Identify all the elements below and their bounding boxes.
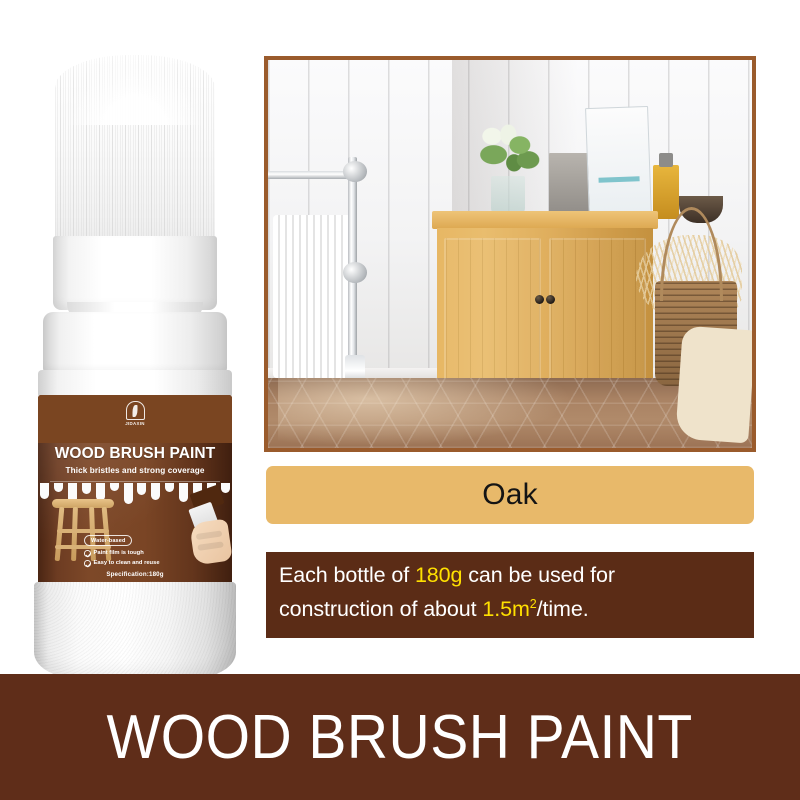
- cabinet-body: [437, 228, 652, 389]
- banner-title: WOOD BRUSH PAINT: [107, 702, 693, 773]
- label-divider: [50, 481, 220, 482]
- brush-ferrule: [53, 236, 217, 310]
- bottom-banner: WOOD BRUSH PAINT: [0, 674, 800, 800]
- coverage-line2-post: /time.: [537, 597, 589, 621]
- picture-frame-decor: [585, 105, 652, 220]
- cabinet-top: [432, 211, 658, 229]
- color-swatch-label: Oak: [482, 478, 538, 512]
- rail-joint: [343, 161, 367, 182]
- product-brush-bottle: JIDAXIN WOOD BRUSH PAINT Thick bristles …: [28, 30, 243, 660]
- grey-box-decor: [549, 153, 593, 219]
- product-promo-image: JIDAXIN WOOD BRUSH PAINT Thick bristles …: [0, 0, 800, 800]
- water-based-badge: Water-based: [84, 535, 132, 546]
- feature-label: Paint film is tough: [94, 550, 144, 556]
- cabinet-knob-icon: [535, 295, 544, 304]
- column-radiator: [273, 215, 355, 378]
- specification-text: Specification:180g: [38, 571, 232, 578]
- hand-holding-brush-icon: [162, 491, 228, 563]
- coverage-line-1: Each bottle of 180g can be used for: [279, 561, 741, 590]
- room-photo: [268, 60, 752, 448]
- color-swatch-oak[interactable]: Oak: [266, 466, 754, 524]
- coverage-line1-post: can be used for: [462, 563, 615, 587]
- brand-logo: JIDAXIN: [117, 401, 153, 433]
- coverage-weight-highlight: 180g: [415, 563, 462, 587]
- bottle-body-bottom: [34, 582, 236, 678]
- check-icon: [84, 560, 91, 567]
- bottle-label: JIDAXIN WOOD BRUSH PAINT Thick bristles …: [38, 395, 232, 585]
- cabinet-door-right: [549, 238, 646, 380]
- feature-label: Easy to clean and reuse: [94, 560, 160, 566]
- bottle-collar: [43, 312, 227, 374]
- label-title: WOOD BRUSH PAINT: [38, 445, 232, 463]
- feature-list: Paint film is tough Easy to clean and re…: [84, 550, 160, 570]
- glass-vase: [491, 176, 525, 215]
- list-item: Paint film is tough: [84, 550, 160, 557]
- bottle-body-top: [38, 370, 232, 398]
- paint-brush-bristles-icon: [55, 55, 215, 260]
- list-item: Easy to clean and reuse: [84, 560, 160, 567]
- check-icon: [84, 550, 91, 557]
- brand-logo-text: JIDAXIN: [125, 421, 144, 426]
- coverage-line1-pre: Each bottle of: [279, 563, 415, 587]
- coverage-area-highlight: 1.5m: [482, 597, 529, 621]
- coverage-area-superscript: 2: [530, 597, 537, 611]
- rail-joint: [343, 262, 367, 283]
- brand-logo-mark-icon: [126, 401, 145, 420]
- label-subtitle: Thick bristles and strong coverage: [38, 466, 232, 475]
- cabinet-door-left: [444, 238, 541, 380]
- coverage-line2-pre: construction of about: [279, 597, 482, 621]
- coverage-info-box: Each bottle of 180g can be used for cons…: [266, 552, 754, 638]
- cabinet-knob-icon: [546, 295, 555, 304]
- room-photo-frame: [264, 56, 756, 452]
- floor-sunlight: [278, 378, 578, 448]
- coverage-line-2: construction of about 1.5m2/time.: [279, 590, 741, 624]
- cream-throw-blanket: [676, 325, 752, 442]
